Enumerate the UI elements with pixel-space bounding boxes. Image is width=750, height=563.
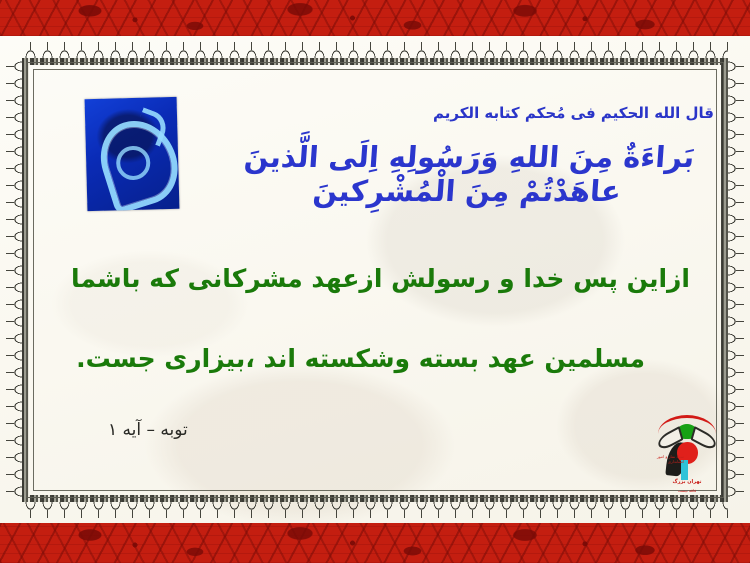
frame-spikes-right — [728, 58, 744, 502]
quran-verse-poster: قال الله الحکیم فی مُحکم کتابه الکریم بَ… — [0, 0, 750, 563]
logo-side-text: ستاد نماز و امور استانداری — [654, 454, 684, 464]
persian-translation-line-2: مسلمین عهد بسته وشکسته اند ،بیزاری جست. — [76, 344, 645, 373]
frame-spikes-top — [22, 42, 728, 58]
blue-calligraphy-artwork — [85, 97, 180, 211]
frame-spikes-left — [6, 58, 22, 502]
organisation-logo: ستاد نماز و امور استانداری تهران بزرگ فا… — [656, 412, 718, 496]
top-arabesque-band — [0, 0, 750, 36]
logo-name-text: تهران بزرگ — [656, 480, 718, 485]
frame-spikes-bottom — [22, 502, 728, 518]
persian-translation-line-1: ازاین پس خدا و رسولش ازعهد مشرکانی که با… — [71, 264, 690, 293]
arabic-intro-line: قال الله الحکیم فی مُحکم کتابه الکریم — [354, 104, 714, 122]
logo-motto-text: فاقه نیست — [656, 488, 718, 493]
verse-citation: توبه – آیه ۱ — [108, 420, 188, 440]
arabic-quran-verse: بَراءَةٌ مِنَ اللهِ وَرَسُولِهِ اِلَى ال… — [216, 140, 721, 208]
bottom-arabesque-band — [0, 523, 750, 563]
